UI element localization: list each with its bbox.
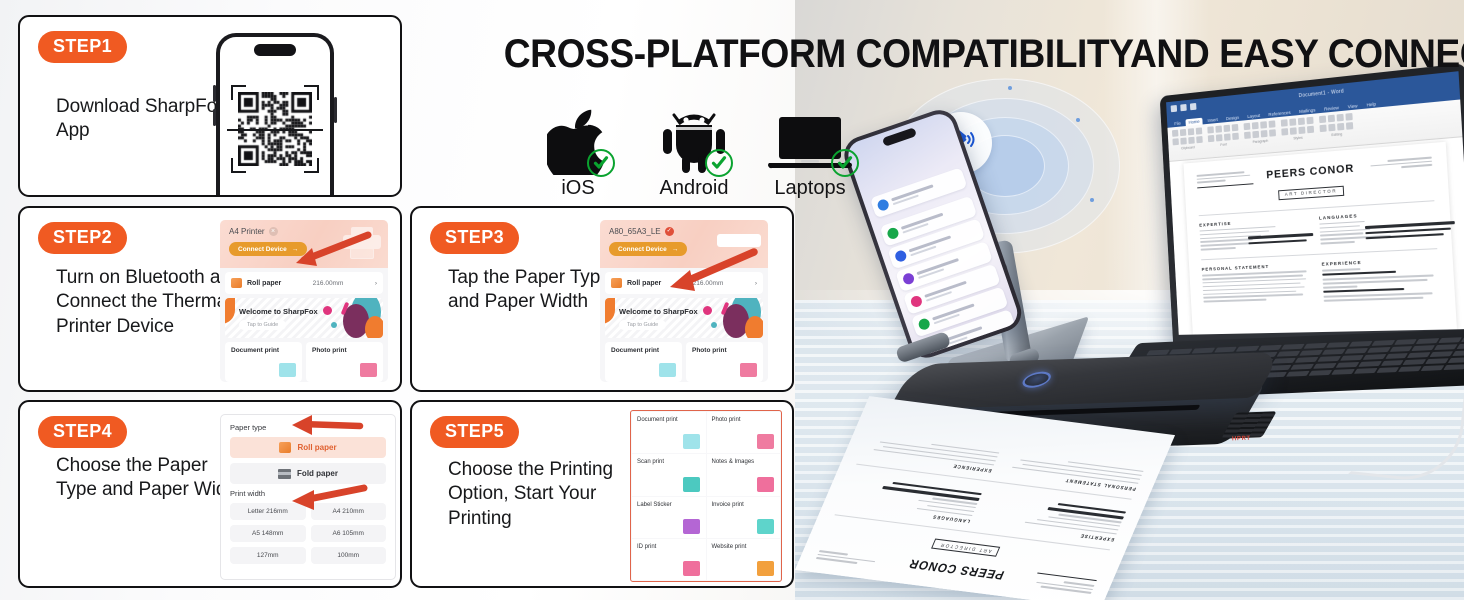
step-card-1: STEP1 Download SharpFox App — [18, 15, 402, 197]
step-card-4: STEP4 Choose the Paper Type and Paper Wi… — [18, 400, 402, 588]
banner-artwork — [321, 298, 383, 338]
product-photo-scene: Document1 - Word FileHomeInsertDesignLay… — [795, 0, 1464, 600]
website-icon — [757, 561, 774, 576]
laptop-icon — [767, 109, 853, 175]
app-device-name-step2: A4 Printer — [229, 227, 265, 236]
print-option-photo[interactable]: Photo print — [707, 412, 781, 453]
photo-icon — [757, 434, 774, 449]
document-print-icon — [279, 363, 296, 377]
step-badge-5: STEP5 — [430, 416, 519, 448]
laptop-lid: Document1 - Word FileHomeInsertDesignLay… — [1160, 63, 1464, 350]
chevron-right-icon: › — [755, 280, 757, 287]
platform-label-ios: iOS — [561, 177, 594, 200]
laptop-screen: Document1 - Word FileHomeInsertDesignLay… — [1166, 71, 1464, 335]
word-tab-help[interactable]: Help — [1363, 100, 1379, 109]
printer-illustration — [717, 234, 761, 247]
arrow-right-icon: → — [292, 246, 299, 253]
resume-section-expertise: EXPERTISE — [1199, 216, 1306, 227]
resume-role: ART DIRECTOR — [1278, 185, 1345, 200]
document-print-icon — [659, 363, 676, 377]
notes-icon — [757, 477, 774, 492]
platform-laptops: Laptops — [760, 109, 860, 200]
print-option-website[interactable]: Website print — [707, 539, 781, 580]
printer-illustration — [343, 227, 381, 261]
step-badge-4: STEP4 — [38, 416, 127, 448]
infographic-canvas: Document1 - Word FileHomeInsertDesignLay… — [0, 0, 1464, 600]
width-option-100mm[interactable]: 100mm — [311, 547, 387, 564]
welcome-banner-step2[interactable]: Welcome to SharpFox Tap to Guide — [225, 298, 383, 338]
phone-notch — [882, 127, 917, 147]
roll-paper-icon — [611, 278, 622, 288]
step-text-2: Turn on Bluetooth and Connect the Therma… — [56, 266, 246, 339]
word-ribbon-group-editing: Editing — [1319, 113, 1354, 145]
print-option-invoice[interactable]: Invoice print — [707, 497, 781, 538]
print-option-label[interactable]: Label Sticker — [632, 497, 706, 538]
check-badge-laptops — [831, 149, 859, 177]
connect-device-button-step2[interactable]: Connect Device → — [229, 242, 307, 256]
android-icon — [661, 109, 727, 175]
roll-paper-icon — [231, 278, 242, 288]
option-roll-paper[interactable]: Roll paper — [230, 437, 386, 458]
width-option-a4[interactable]: A4 210mm — [311, 503, 387, 520]
tile-document-print[interactable]: Document print — [225, 342, 302, 382]
app-header-step3: A80_65A3_LE ✓ Connect Device → — [600, 220, 768, 268]
word-ribbon-group-paragraph: Paragraph — [1244, 120, 1277, 151]
word-tab-view[interactable]: View — [1345, 102, 1361, 111]
close-icon[interactable]: × — [269, 227, 278, 236]
print-tiles-step2: Document print Photo print — [225, 342, 383, 382]
qr-phone-mock — [216, 33, 334, 197]
option-fold-paper[interactable]: Fold paper — [230, 463, 386, 484]
id-card-icon — [683, 561, 700, 576]
tile-document-print[interactable]: Document print — [605, 342, 682, 382]
resume-section-experience: EXPERIENCE — [1322, 257, 1439, 267]
step-card-5: STEP5 Choose the Printing Option, Start … — [410, 400, 794, 588]
print-option-document[interactable]: Document print — [632, 412, 706, 453]
connect-device-button-step3[interactable]: Connect Device → — [609, 242, 687, 256]
apple-icon — [547, 109, 609, 175]
document-icon — [683, 434, 700, 449]
check-badge-ios — [587, 149, 615, 177]
print-tiles-step3: Document print Photo print — [605, 342, 763, 382]
step-card-2: STEP2 Turn on Bluetooth and Connect the … — [18, 206, 402, 392]
print-option-notes[interactable]: Notes & Images — [707, 454, 781, 495]
photo-print-icon — [360, 363, 377, 377]
print-width-label: Print width — [230, 489, 386, 498]
width-option-a5[interactable]: A5 148mm — [230, 525, 306, 542]
word-ribbon-group-font: Font — [1207, 124, 1239, 155]
qr-scan-line — [227, 129, 323, 131]
paper-type-label: Paper type — [230, 423, 386, 432]
print-options-panel: Document print Photo print Scan print No… — [630, 410, 782, 582]
platform-ios: iOS — [528, 109, 628, 200]
paper-type-row-step2[interactable]: Roll paper 216.00mm › — [225, 272, 383, 294]
word-document-page: PEERS CONOR ART DIRECTOR — [1183, 142, 1456, 335]
step-text-4: Choose the Paper Type and Paper Width — [56, 454, 246, 503]
label-icon — [683, 519, 700, 534]
tile-photo-print[interactable]: Photo print — [686, 342, 763, 382]
printer-brand-label: HPRT — [1232, 436, 1251, 443]
width-option-a6[interactable]: A6 105mm — [311, 525, 387, 542]
app-header-step2: A4 Printer × Connect Device → — [220, 220, 388, 268]
paper-settings-panel: Paper type Roll paper Fold paper Print w… — [220, 414, 396, 580]
app-screenshot-step3: A80_65A3_LE ✓ Connect Device → Roll pape… — [600, 220, 768, 382]
step-card-3: STEP3 Tap the Paper Type and Paper Width… — [410, 206, 794, 392]
qr-scan-frame — [231, 85, 319, 173]
app-screenshot-step2: A4 Printer × Connect Device → Roll paper… — [220, 220, 388, 382]
step-badge-1: STEP1 — [38, 31, 127, 63]
page-title: CROSS-PLATFORM COMPATIBILITYAND EASY CON… — [504, 34, 1401, 74]
step-text-5: Choose the Printing Option, Start Your P… — [448, 458, 653, 531]
paper-type-row-step3[interactable]: Roll paper 216.00mm › — [605, 272, 763, 294]
printer-power-button[interactable] — [1019, 371, 1055, 389]
word-tab-file[interactable]: File — [1171, 120, 1183, 128]
platform-compatibility-row: iOS Android — [528, 96, 860, 200]
laptop-device: Document1 - Word FileHomeInsertDesignLay… — [1153, 80, 1464, 390]
printed-resume-role: ART DIRECTOR — [931, 539, 1001, 557]
scanner-icon — [683, 477, 700, 492]
banner-artwork — [701, 298, 763, 338]
photo-print-icon — [740, 363, 757, 377]
resume-section-languages: LANGUAGES — [1319, 208, 1435, 220]
print-width-grid: Letter 216mm A4 210mm A5 148mm A6 105mm … — [230, 503, 386, 564]
phone-notch — [254, 44, 296, 56]
platform-label-laptops: Laptops — [774, 177, 845, 200]
app-device-name-step3: A80_65A3_LE — [609, 227, 661, 236]
tap-to-guide-chip[interactable]: Tap to Guide — [239, 320, 286, 330]
width-option-letter[interactable]: Letter 216mm — [230, 503, 306, 520]
word-ribbon-group-clipboard: Clipboard — [1172, 127, 1203, 157]
step-badge-2: STEP2 — [38, 222, 127, 254]
roll-paper-icon — [279, 442, 291, 453]
platform-label-android: Android — [660, 177, 729, 200]
step-badge-3: STEP3 — [430, 222, 519, 254]
width-option-127mm[interactable]: 127mm — [230, 547, 306, 564]
print-option-scan[interactable]: Scan print — [632, 454, 706, 495]
arrow-right-icon: → — [672, 246, 679, 253]
check-badge-android — [705, 149, 733, 177]
tap-to-guide-chip[interactable]: Tap to Guide — [619, 320, 666, 330]
tile-photo-print[interactable]: Photo print — [306, 342, 383, 382]
fold-paper-icon — [278, 469, 291, 479]
print-option-id[interactable]: ID print — [632, 539, 706, 580]
welcome-banner-step3[interactable]: Welcome to SharpFox Tap to Guide — [605, 298, 763, 338]
word-ribbon-group-styles: Styles — [1281, 117, 1315, 149]
connected-check-icon: ✓ — [665, 227, 674, 236]
invoice-icon — [757, 519, 774, 534]
chevron-right-icon: › — [375, 280, 377, 287]
platform-android: Android — [644, 109, 744, 200]
